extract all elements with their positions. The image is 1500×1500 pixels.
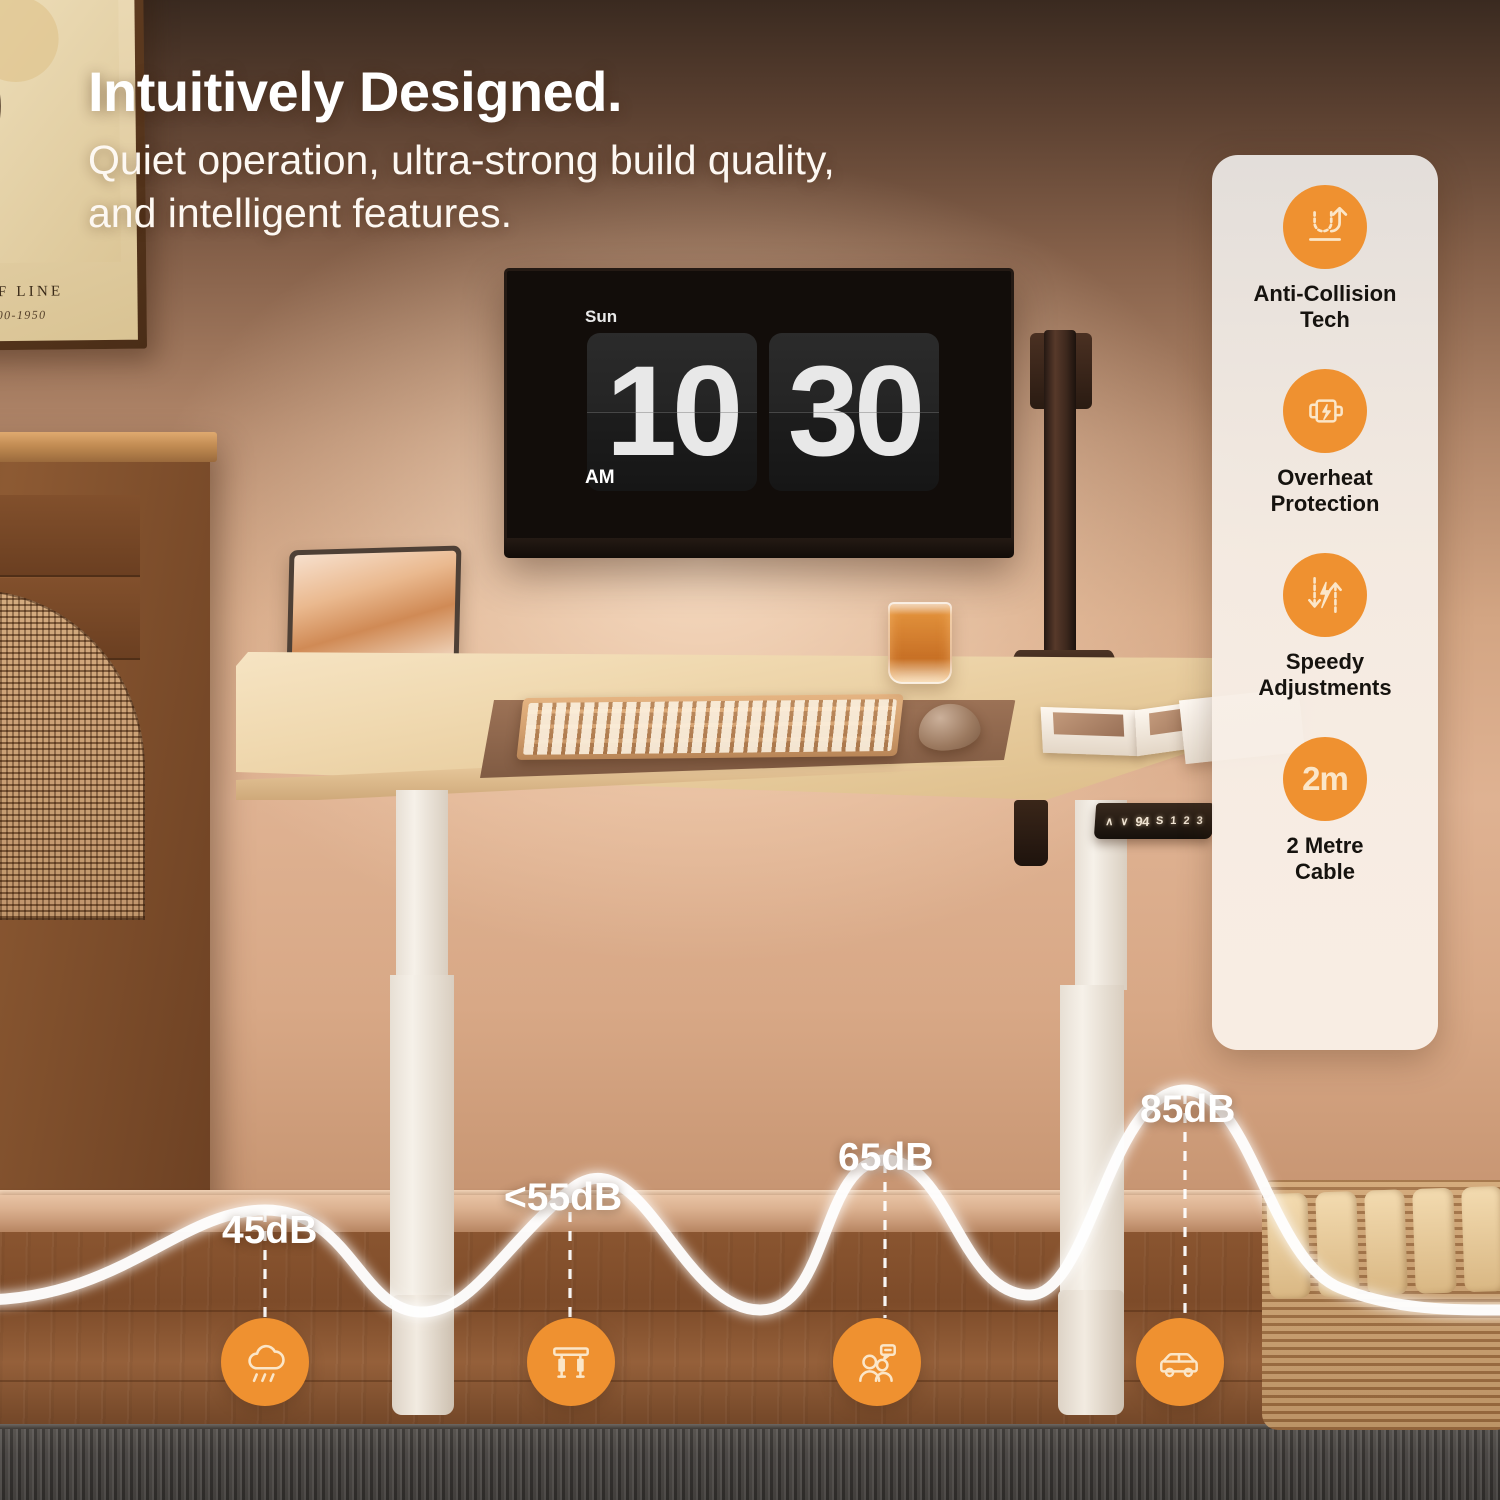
label-line-2: Protection [1225, 491, 1425, 517]
retro-keyboard [516, 694, 903, 760]
feature-cable-length: 2m 2 Metre Cable [1212, 737, 1438, 885]
noise-level-curve [0, 1060, 1500, 1500]
headline-title: Intuitively Designed. [88, 62, 1048, 122]
noise-label-65db: 65dB [838, 1136, 933, 1180]
speedy-adjustment-icon [1300, 570, 1350, 620]
cable-length-value: 2m [1302, 760, 1348, 798]
noise-curve-path [0, 1090, 1500, 1312]
noise-label-45db: 45dB [222, 1209, 317, 1253]
car-icon-badge [1136, 1318, 1224, 1406]
overheat-protection-icon [1300, 386, 1350, 436]
cable-length-badge: 2m [1283, 737, 1367, 821]
feature-speedy-adjustments: Speedy Adjustments [1212, 553, 1438, 701]
feature-highlight-card: Anti-Collision Tech Overheat Protection [1212, 155, 1438, 1050]
label-line-1: Speedy [1225, 649, 1425, 675]
anti-collision-icon-badge [1283, 185, 1367, 269]
clock-meridiem: AM [585, 467, 615, 489]
monitor-stand-pole [1044, 330, 1076, 670]
controller-up-button[interactable]: ∧ [1105, 815, 1114, 828]
clock-hour: 10 [606, 348, 738, 476]
feature-anti-collision: Anti-Collision Tech [1212, 185, 1438, 333]
book-photo [1053, 712, 1124, 736]
tablet-screen [292, 551, 457, 668]
label-line-2: Tech [1225, 307, 1425, 333]
headline-subtitle-line1: Quiet operation, ultra-strong build qual… [88, 134, 1048, 186]
poster-caption: E OF LINE [0, 283, 138, 303]
feature-cable-length-label: 2 Metre Cable [1225, 833, 1425, 885]
rain-cloud-icon [240, 1337, 290, 1387]
clock-minute: 30 [788, 348, 920, 476]
keyboard-keys [523, 699, 897, 755]
monitor-arm-desk-clamp [1014, 800, 1048, 866]
desk-height-controller[interactable]: ∧ ∨ 94 S 1 2 3 [1094, 803, 1215, 839]
standing-desk-icon [546, 1337, 596, 1387]
controller-save-button[interactable]: S [1156, 815, 1164, 827]
controller-preset-3-button[interactable]: 3 [1196, 815, 1203, 827]
anti-collision-icon [1300, 202, 1350, 252]
headline-block: Intuitively Designed. Quiet operation, u… [88, 62, 1048, 239]
standing-desk-icon-badge [527, 1318, 615, 1406]
conversation-icon-badge [833, 1318, 921, 1406]
car-icon [1155, 1337, 1205, 1387]
feature-anti-collision-label: Anti-Collision Tech [1225, 281, 1425, 333]
flip-clock-minute-card: 30 [769, 333, 939, 491]
feature-overheat-protection: Overheat Protection [1212, 369, 1438, 517]
controller-preset-2-button[interactable]: 2 [1183, 815, 1190, 827]
book-page-left [1041, 707, 1140, 756]
label-line-2: Cable [1225, 859, 1425, 885]
controller-height-display: 94 [1135, 814, 1150, 829]
dresser-drawer [0, 495, 140, 577]
desk-leg-left-upper [396, 790, 448, 980]
rain-cloud-icon-badge [221, 1318, 309, 1406]
feature-speedy-adjustments-label: Speedy Adjustments [1225, 649, 1425, 701]
computer-monitor: Sun 10 30 AM [504, 268, 1014, 556]
label-line-1: Overheat [1225, 465, 1425, 491]
noise-label-55db: <55dB [504, 1176, 622, 1220]
noise-label-85db: 85dB [1140, 1088, 1235, 1132]
overheat-protection-icon-badge [1283, 369, 1367, 453]
drinking-glass [888, 602, 952, 684]
label-line-1: Anti-Collision [1225, 281, 1425, 307]
label-line-2: Adjustments [1225, 675, 1425, 701]
label-line-1: 2 Metre [1225, 833, 1425, 859]
speedy-adjustment-icon-badge [1283, 553, 1367, 637]
clock-day-label: Sun [585, 307, 617, 327]
conversation-icon [852, 1337, 902, 1387]
poster-years: 1900-1950 [0, 307, 138, 325]
monitor-bottom-bezel [504, 538, 1014, 558]
controller-down-button[interactable]: ∨ [1120, 815, 1129, 828]
controller-preset-1-button[interactable]: 1 [1170, 815, 1177, 827]
feature-overheat-protection-label: Overheat Protection [1225, 465, 1425, 517]
dresser-top-surface [0, 432, 217, 462]
headline-subtitle-line2: and intelligent features. [88, 187, 1048, 239]
